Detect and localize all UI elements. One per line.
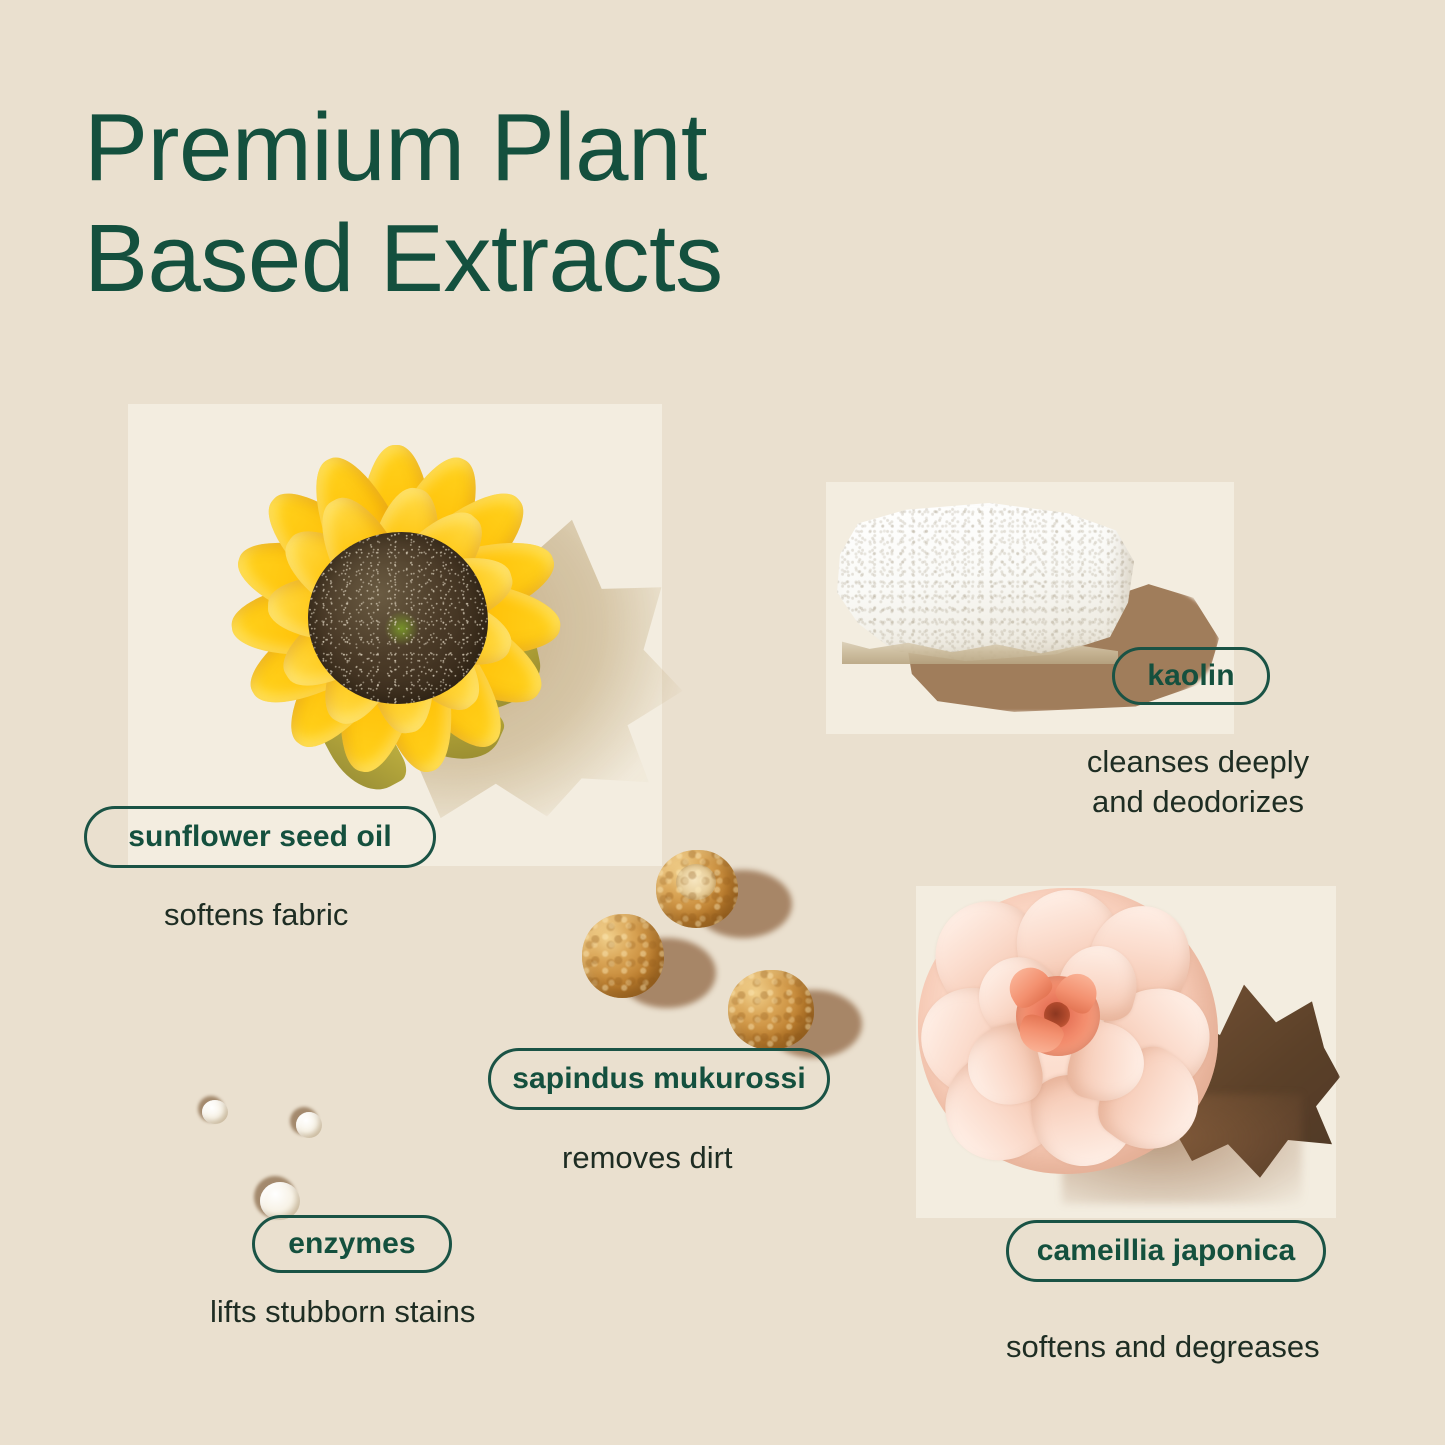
soap-nut-scar [676,864,716,900]
ingredients-infographic: Premium Plant Based Extracts [0,0,1445,1445]
sunflower-photo [196,410,666,870]
ingredient-pill-kaolin[interactable]: kaolin [1112,647,1270,705]
ingredient-caption-sapindus-mukurossi: removes dirt [562,1138,733,1178]
ingredient-pill-sapindus-mukurossi[interactable]: sapindus mukurossi [488,1048,830,1110]
camellia-flower-photo [912,884,1342,1222]
ingredient-pill-enzymes[interactable]: enzymes [252,1215,452,1273]
ingredient-caption-enzymes: lifts stubborn stains [210,1292,475,1332]
soap-nut [656,850,738,928]
soap-nuts-photo [552,842,872,1072]
ingredient-caption-sunflower-seed-oil: softens fabric [164,895,348,935]
ingredient-caption-cameillia-japonica: softens and degreases [1006,1327,1320,1367]
kaolin-rock-slab [834,496,1134,668]
sunflower-seed-head [308,532,488,704]
ingredient-caption-kaolin: cleanses deeply and deodorizes [1070,742,1326,823]
enzyme-bead [296,1112,322,1138]
ingredient-pill-cameillia-japonica[interactable]: cameillia japonica [1006,1220,1326,1282]
ingredient-pill-sunflower-seed-oil[interactable]: sunflower seed oil [84,806,436,868]
page-title: Premium Plant Based Extracts [84,92,984,315]
soap-nut [582,914,664,998]
soap-nut [728,970,814,1050]
enzyme-bead [202,1100,228,1124]
